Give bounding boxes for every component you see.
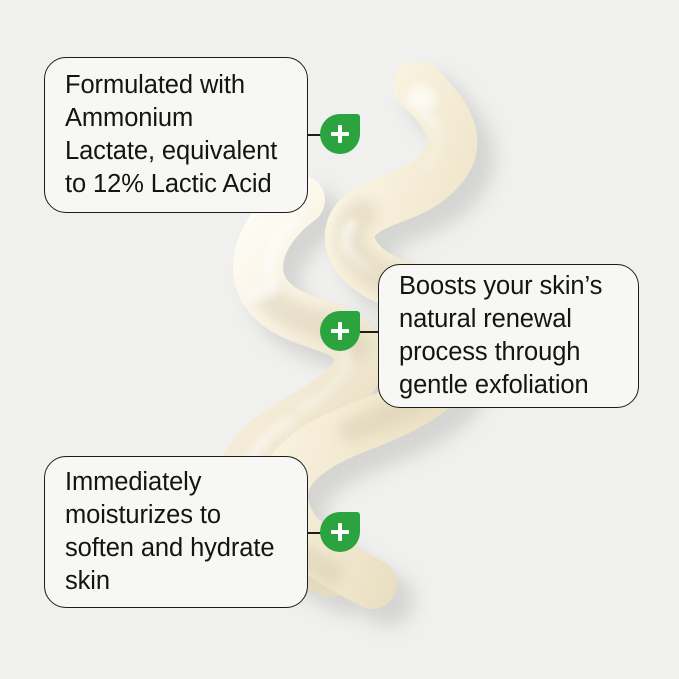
callout-box-renewal: Boosts your skin’s natural renewal proce… bbox=[378, 264, 639, 408]
plus-leaf-icon bbox=[320, 114, 360, 154]
callout-box-moisturize: Immediately moisturizes to soften and hy… bbox=[44, 456, 308, 608]
callout-box-formulated: Formulated with Ammonium Lactate, equiva… bbox=[44, 57, 308, 213]
plus-icon-vertical-bar bbox=[338, 322, 341, 340]
callout-text-formulated: Formulated with Ammonium Lactate, equiva… bbox=[45, 69, 307, 202]
infographic-canvas: Formulated with Ammonium Lactate, equiva… bbox=[0, 0, 679, 679]
plus-icon-vertical-bar bbox=[338, 125, 341, 143]
callout-text-renewal: Boosts your skin’s natural renewal proce… bbox=[379, 270, 638, 403]
plus-leaf-icon bbox=[320, 512, 360, 552]
plus-leaf-icon bbox=[320, 311, 360, 351]
callout-text-moisturize: Immediately moisturizes to soften and hy… bbox=[45, 466, 307, 599]
plus-icon-vertical-bar bbox=[338, 523, 341, 541]
